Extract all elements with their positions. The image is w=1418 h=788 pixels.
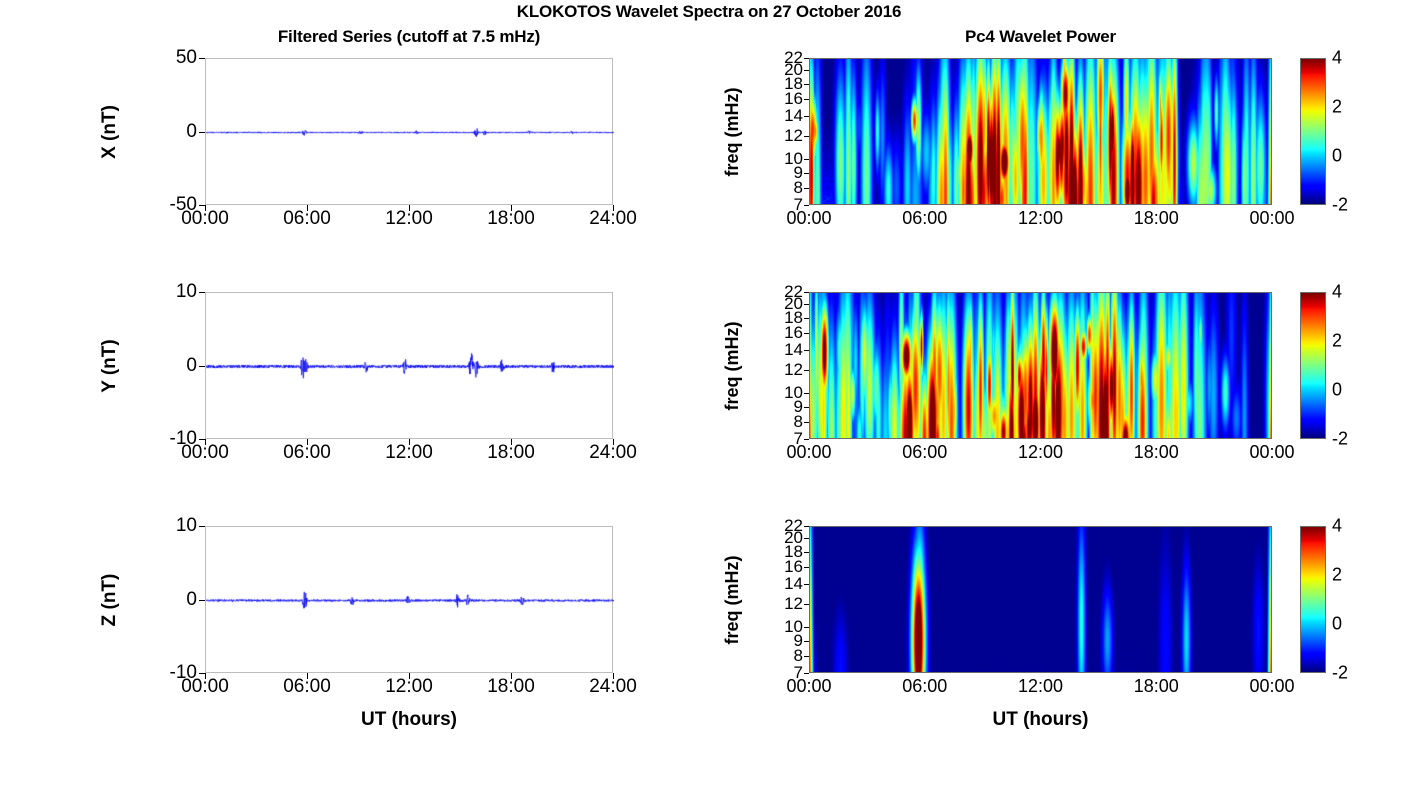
ytick-mark xyxy=(199,292,205,293)
ylabel-y: Y (nT) xyxy=(98,291,122,441)
ftick-mark xyxy=(804,641,809,642)
colorbar-tick-1-1: 2 xyxy=(1332,331,1342,352)
ftick-mark xyxy=(804,304,809,305)
ytick-mark xyxy=(199,58,205,59)
left-column-title: Filtered Series (cutoff at 7.5 mHz) xyxy=(205,27,613,47)
xtick-right-1-1: 06:00 xyxy=(875,442,975,463)
ftick-mark xyxy=(804,84,809,85)
ftick-mark xyxy=(804,333,809,334)
colorbar-tick-0-2: 0 xyxy=(1332,146,1342,167)
xtick-right-0-3: 18:00 xyxy=(1106,208,1206,229)
timeseries-trace-x xyxy=(206,59,614,206)
ftick-mark xyxy=(804,99,809,100)
xtick-right-1-0: 00:00 xyxy=(759,442,859,463)
xtick-mark xyxy=(205,439,206,445)
xtick-mark xyxy=(307,205,308,211)
xtick-right-2-3: 18:00 xyxy=(1106,676,1206,697)
xtick-left-0-2: 12:00 xyxy=(359,208,459,230)
freq-axis-label-x: freq (mHz) xyxy=(721,52,743,212)
xtick-right-0-2: 12:00 xyxy=(991,208,1091,229)
ftick-mark xyxy=(804,116,809,117)
ytick-z-0: 10 xyxy=(127,515,197,537)
xtick-left-2-1: 06:00 xyxy=(257,676,357,698)
freq-axis-label-z: freq (mHz) xyxy=(721,520,743,680)
xtick-left-1-2: 12:00 xyxy=(359,442,459,464)
xtick-left-2-2: 12:00 xyxy=(359,676,459,698)
ftick-mark xyxy=(804,205,809,206)
colorbar-tick-1-0: 4 xyxy=(1332,282,1342,303)
ftick-0-4: 14 xyxy=(757,106,803,126)
timeseries-axes-y xyxy=(205,292,613,439)
timeseries-trace-z xyxy=(206,527,614,674)
xtick-left-1-4: 24:00 xyxy=(563,442,663,464)
xtick-left-1-3: 18:00 xyxy=(461,442,561,464)
ytick-mark xyxy=(199,526,205,527)
colorbar-tick-1-2: 0 xyxy=(1332,380,1342,401)
ylabel-z: Z (nT) xyxy=(98,525,122,675)
xtick-left-0-1: 06:00 xyxy=(257,208,357,230)
xtick-left-1-0: 00:00 xyxy=(155,442,255,464)
ftick-1-5: 12 xyxy=(757,360,803,380)
timeseries-trace-y xyxy=(206,293,614,440)
ftick-mark xyxy=(804,350,809,351)
xtick-mark xyxy=(409,439,410,445)
xtick-right-0-4: 00:00 xyxy=(1222,208,1322,229)
spectrogram-z xyxy=(809,526,1272,673)
ftick-mark xyxy=(804,188,809,189)
colorbar-tick-1-3: -2 xyxy=(1332,429,1348,450)
colorbar-tick-2-2: 0 xyxy=(1332,614,1342,635)
ftick-mark xyxy=(804,567,809,568)
xtick-left-0-0: 00:00 xyxy=(155,208,255,230)
ftick-mark xyxy=(804,526,809,527)
xtick-left-2-0: 00:00 xyxy=(155,676,255,698)
figure-canvas: KLOKOTOS Wavelet Spectra on 27 October 2… xyxy=(0,0,1418,788)
xtick-mark xyxy=(409,673,410,679)
ftick-mark xyxy=(804,584,809,585)
colorbar-tick-0-3: -2 xyxy=(1332,195,1348,216)
xtick-mark xyxy=(205,673,206,679)
spectrogram-x xyxy=(809,58,1272,205)
xtick-left-2-4: 24:00 xyxy=(563,676,663,698)
xtick-mark xyxy=(307,439,308,445)
ylabel-x: X (nT) xyxy=(98,57,122,207)
ftick-mark xyxy=(804,439,809,440)
colorbar-y xyxy=(1300,292,1326,439)
xtick-left-0-4: 24:00 xyxy=(563,208,663,230)
figure-title: KLOKOTOS Wavelet Spectra on 27 October 2… xyxy=(0,2,1418,22)
xtick-right-2-0: 00:00 xyxy=(759,676,859,697)
colorbar-tick-0-1: 2 xyxy=(1332,97,1342,118)
ftick-mark xyxy=(804,422,809,423)
colorbar-tick-0-0: 4 xyxy=(1332,48,1342,69)
ytick-x-1: 0 xyxy=(127,121,197,143)
xtick-right-0-1: 06:00 xyxy=(875,208,975,229)
ftick-mark xyxy=(804,552,809,553)
xtick-mark xyxy=(613,673,614,679)
ftick-mark xyxy=(804,656,809,657)
colorbar-x xyxy=(1300,58,1326,205)
ytick-mark xyxy=(199,600,205,601)
timeseries-axes-z xyxy=(205,526,613,673)
xtick-mark xyxy=(409,205,410,211)
xtick-right-2-1: 06:00 xyxy=(875,676,975,697)
ftick-mark xyxy=(804,292,809,293)
ytick-y-1: 0 xyxy=(127,355,197,377)
xtick-right-1-4: 00:00 xyxy=(1222,442,1322,463)
ftick-mark xyxy=(804,70,809,71)
ftick-mark xyxy=(804,370,809,371)
xlabel-left: UT (hours) xyxy=(289,709,529,731)
colorbar-z xyxy=(1300,526,1326,673)
spectrogram-y xyxy=(809,292,1272,439)
ftick-mark xyxy=(804,673,809,674)
xtick-mark xyxy=(307,673,308,679)
ytick-z-1: 0 xyxy=(127,589,197,611)
ftick-mark xyxy=(804,173,809,174)
xtick-left-1-1: 06:00 xyxy=(257,442,357,464)
xtick-mark xyxy=(613,205,614,211)
xtick-left-2-3: 18:00 xyxy=(461,676,561,698)
ftick-mark xyxy=(804,58,809,59)
freq-axis-label-y: freq (mHz) xyxy=(721,286,743,446)
ftick-mark xyxy=(804,159,809,160)
ftick-1-4: 14 xyxy=(757,340,803,360)
xtick-mark xyxy=(205,205,206,211)
ftick-mark xyxy=(804,136,809,137)
timeseries-axes-x xyxy=(205,58,613,205)
xtick-mark xyxy=(511,205,512,211)
right-column-title: Pc4 Wavelet Power xyxy=(809,27,1272,47)
xtick-right-1-2: 12:00 xyxy=(991,442,1091,463)
xtick-mark xyxy=(511,673,512,679)
ytick-mark xyxy=(199,366,205,367)
xtick-mark xyxy=(511,439,512,445)
ftick-mark xyxy=(804,627,809,628)
ftick-2-5: 12 xyxy=(757,594,803,614)
colorbar-tick-2-3: -2 xyxy=(1332,663,1348,684)
xtick-left-0-3: 18:00 xyxy=(461,208,561,230)
ftick-mark xyxy=(804,538,809,539)
xtick-right-0-0: 00:00 xyxy=(759,208,859,229)
ftick-2-4: 14 xyxy=(757,574,803,594)
xtick-right-2-2: 12:00 xyxy=(991,676,1091,697)
ftick-mark xyxy=(804,393,809,394)
ytick-mark xyxy=(199,132,205,133)
colorbar-tick-2-1: 2 xyxy=(1332,565,1342,586)
xtick-mark xyxy=(613,439,614,445)
ytick-x-0: 50 xyxy=(127,47,197,69)
colorbar-tick-2-0: 4 xyxy=(1332,516,1342,537)
ftick-mark xyxy=(804,407,809,408)
ftick-mark xyxy=(804,318,809,319)
xlabel-right: UT (hours) xyxy=(921,709,1161,731)
ftick-0-5: 12 xyxy=(757,126,803,146)
ftick-mark xyxy=(804,604,809,605)
ytick-y-0: 10 xyxy=(127,281,197,303)
xtick-right-1-3: 18:00 xyxy=(1106,442,1206,463)
xtick-right-2-4: 00:00 xyxy=(1222,676,1322,697)
